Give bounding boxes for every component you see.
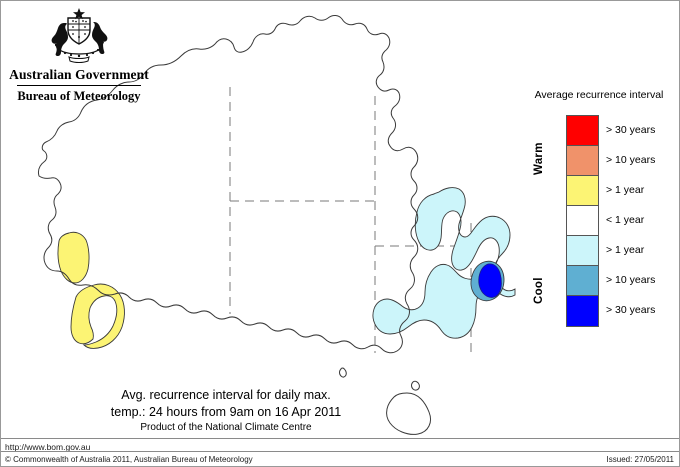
legend-label-0: > 30 years xyxy=(606,115,680,145)
legend-swatch-1 xyxy=(567,146,598,176)
legend-cool-label: Cool xyxy=(533,263,551,319)
legend-title: Average recurrence interval xyxy=(519,89,679,101)
legend-swatch-3 xyxy=(567,206,598,236)
footer-issued-date: Issued: 27/05/2011 xyxy=(607,455,674,464)
brand-divider xyxy=(17,85,141,86)
legend-label-column: > 30 years > 10 years > 1 year < 1 year … xyxy=(606,115,680,325)
government-title: Australian Government xyxy=(9,67,149,82)
legend-warm-label: Warm xyxy=(533,131,551,187)
legend-label-2: > 1 year xyxy=(606,175,680,205)
legend-label-6: > 30 years xyxy=(606,295,680,325)
footer-copyright: © Commonwealth of Australia 2011, Austra… xyxy=(5,455,253,464)
footer-divider-bottom xyxy=(1,451,679,452)
caption-line-1: Avg. recurrence interval for daily max. xyxy=(61,387,391,404)
caption-line-2: temp.: 24 hours from 9am on 16 Apr 2011 xyxy=(61,404,391,421)
agency-title: Bureau of Meteorology xyxy=(9,89,149,103)
legend: Average recurrence interval Warm Cool > … xyxy=(519,89,679,339)
recurrence-regions xyxy=(58,188,515,349)
map-caption: Avg. recurrence interval for daily max. … xyxy=(61,387,391,435)
legend-label-4: > 1 year xyxy=(606,235,680,265)
bom-branding: Australian Government Bureau of Meteorol… xyxy=(9,5,149,103)
wa-mid-west-warm-region xyxy=(58,232,89,283)
footer-divider-top xyxy=(1,438,679,439)
legend-swatch-4 xyxy=(567,236,598,266)
legend-label-3: < 1 year xyxy=(606,205,680,235)
australian-coat-of-arms-icon xyxy=(42,7,116,65)
caption-line-3: Product of the National Climate Centre xyxy=(61,421,391,435)
nsw-coast-core-cool-region xyxy=(479,264,502,298)
bom-recurrence-interval-map-page: Australian Government Bureau of Meteorol… xyxy=(0,0,680,467)
legend-label-1: > 10 years xyxy=(606,145,680,175)
legend-swatch-0 xyxy=(567,116,598,146)
legend-swatch-column xyxy=(566,115,599,327)
legend-swatch-2 xyxy=(567,176,598,206)
legend-swatch-5 xyxy=(567,266,598,296)
legend-body: Warm Cool > 30 years > 10 years > 1 year… xyxy=(519,115,679,331)
legend-swatch-6 xyxy=(567,296,598,326)
legend-label-5: > 10 years xyxy=(606,265,680,295)
